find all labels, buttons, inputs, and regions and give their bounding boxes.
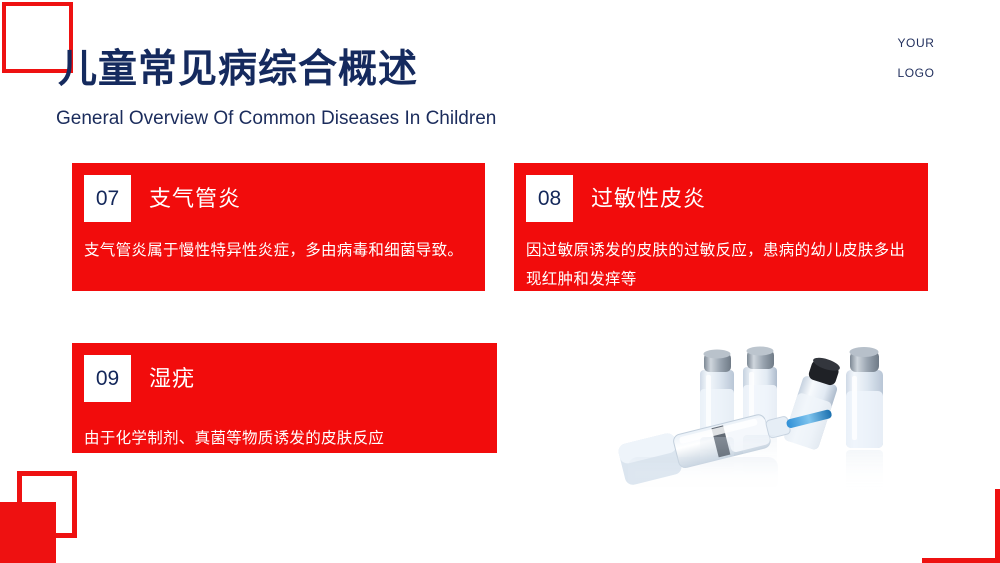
- vaccine-illustration-icon: [588, 333, 918, 505]
- card-header: 09 湿疣: [84, 355, 497, 402]
- vaccine-photo: [588, 333, 918, 505]
- decoration-bottom-left-square-solid: [0, 502, 56, 563]
- card-title: 支气管炎: [149, 175, 241, 222]
- disease-card-09[interactable]: 09 湿疣 由于化学制剂、真菌等物质诱发的皮肤反应: [72, 343, 497, 453]
- disease-card-08[interactable]: 08 过敏性皮炎 因过敏原诱发的皮肤的过敏反应，患病的幼儿皮肤多出现红肿和发痒等: [514, 163, 928, 291]
- card-number-badge: 08: [526, 175, 573, 222]
- card-number-badge: 09: [84, 355, 131, 402]
- slide-canvas: 儿童常见病综合概述 General Overview Of Common Dis…: [0, 0, 1000, 563]
- card-header: 07 支气管炎: [84, 175, 485, 222]
- card-title: 过敏性皮炎: [591, 175, 706, 222]
- vaccine-vial-tilted: [783, 354, 845, 451]
- card-description: 支气管炎属于慢性特异性炎症，多由病毒和细菌导致。: [84, 236, 469, 265]
- disease-card-07[interactable]: 07 支气管炎 支气管炎属于慢性特异性炎症，多由病毒和细菌导致。: [72, 163, 485, 291]
- card-title: 湿疣: [149, 355, 195, 402]
- decoration-bottom-right-horizontal-bar: [922, 558, 1000, 563]
- card-number-badge: 07: [84, 175, 131, 222]
- page-subtitle: General Overview Of Common Diseases In C…: [56, 107, 496, 131]
- page-title: 儿童常见病综合概述: [58, 46, 418, 94]
- card-description: 因过敏原诱发的皮肤的过敏反应，患病的幼儿皮肤多出现红肿和发痒等: [526, 236, 916, 294]
- logo-line-1: YOUR: [880, 28, 952, 58]
- decoration-bottom-right-vertical-bar: [995, 489, 1000, 563]
- card-description: 由于化学制剂、真菌等物质诱发的皮肤反应: [84, 424, 484, 453]
- vaccine-vial-right: [846, 347, 883, 448]
- logo-placeholder: YOUR LOGO: [880, 28, 952, 88]
- card-header: 08 过敏性皮炎: [526, 175, 928, 222]
- logo-line-2: LOGO: [880, 58, 952, 88]
